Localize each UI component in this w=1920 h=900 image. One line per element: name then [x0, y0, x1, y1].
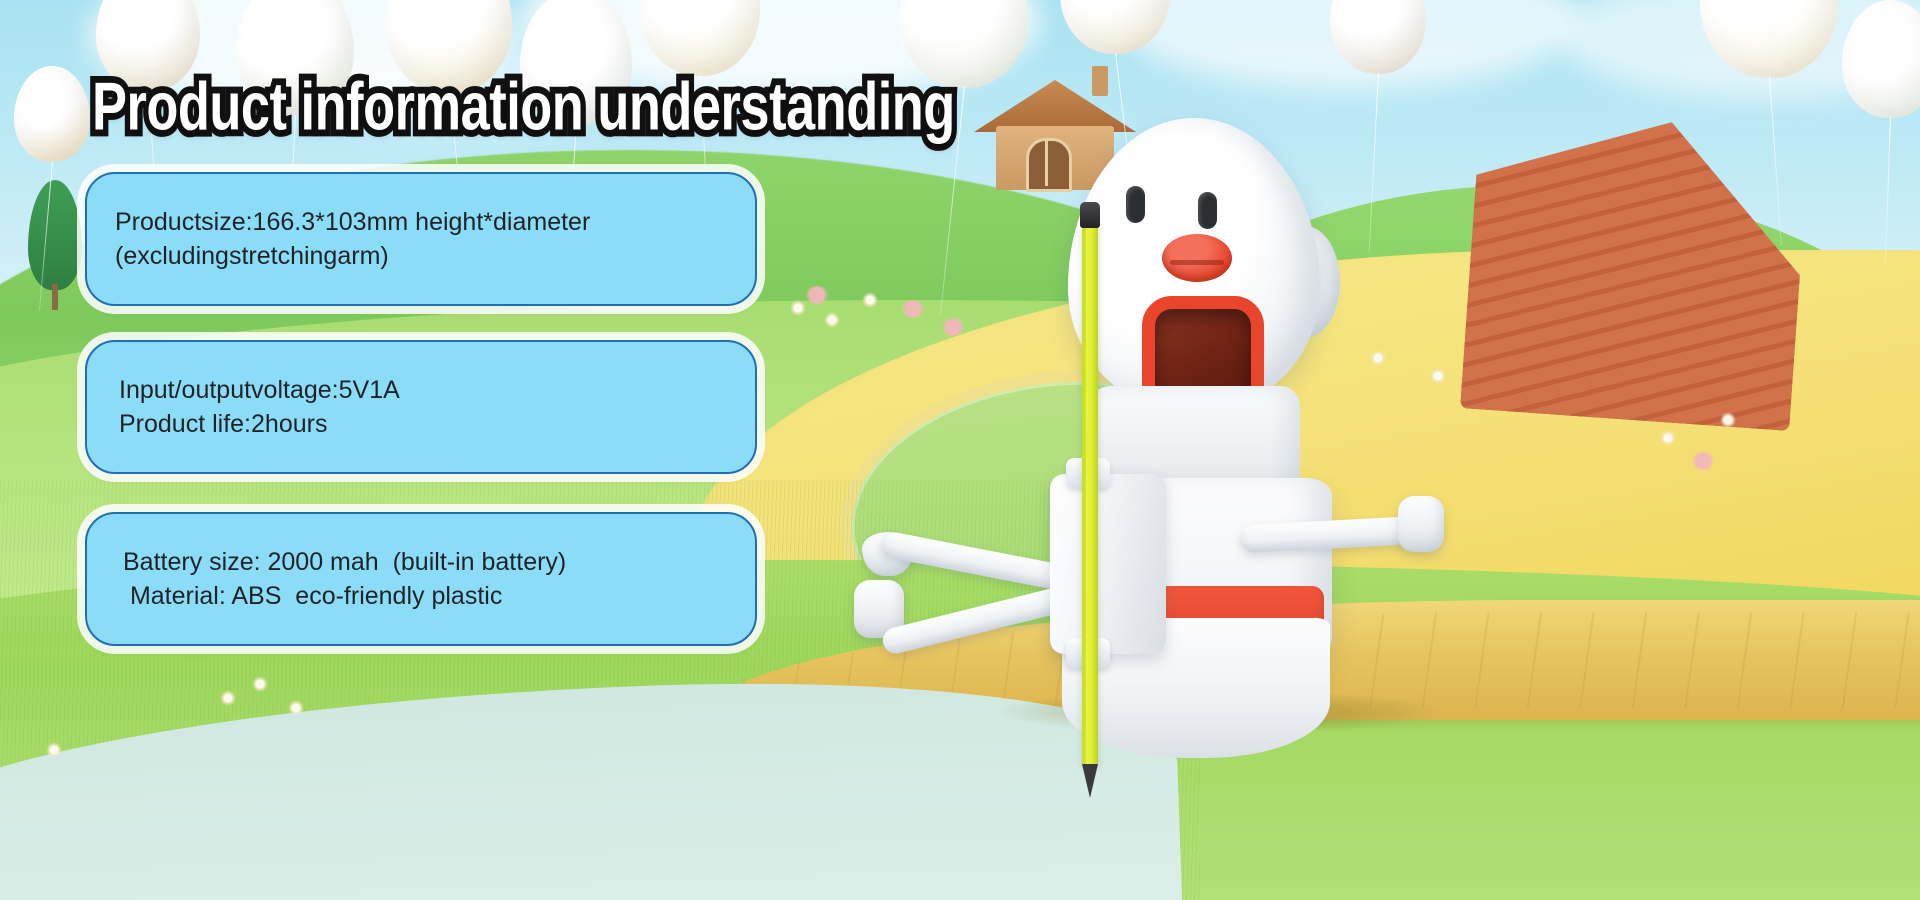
balloon-icon	[1842, 0, 1920, 118]
balloon-body	[14, 66, 90, 162]
info-box-power: Input/outputvoltage:5V1A Product life:2h…	[85, 340, 757, 474]
info-line: Input/outputvoltage:5V1A	[87, 373, 755, 407]
balloon-body	[640, 0, 760, 76]
balloon-icon	[1060, 0, 1170, 54]
page-title: Product information understanding	[92, 68, 955, 146]
pencil-cap	[1080, 202, 1100, 228]
info-line: Productsize:166.3*103mm height*diameter	[87, 205, 755, 239]
flower-icon	[220, 690, 236, 706]
flower-icon	[288, 700, 304, 716]
chimney	[1092, 66, 1108, 96]
balloon-icon	[1700, 0, 1838, 78]
drawing-robot-product	[990, 118, 1390, 678]
arm-joint	[1398, 496, 1444, 552]
robot-eye-left	[1126, 186, 1145, 223]
flower-icon	[1690, 452, 1716, 470]
info-line: Product life:2hours	[87, 407, 755, 441]
tree-trunk	[52, 284, 58, 310]
pencil-tip	[1082, 764, 1098, 798]
robot-beak	[1162, 234, 1232, 282]
balloon-icon	[14, 66, 90, 162]
info-line: (excludingstretchingarm)	[87, 239, 755, 273]
product-banner: Product information understanding Produc…	[0, 0, 1920, 900]
info-line: Battery size: 2000 mah (built-in battery…	[87, 545, 755, 579]
flower-icon	[790, 300, 806, 316]
balloon-body	[1842, 0, 1920, 118]
info-box-product-size: Productsize:166.3*103mm height*diameter …	[85, 172, 757, 306]
flower-icon	[1430, 368, 1446, 384]
balloon-body	[1060, 0, 1170, 54]
tree-crown	[28, 180, 82, 290]
flower-icon	[900, 300, 926, 318]
flower-icon	[824, 312, 840, 328]
balloon-icon	[640, 0, 760, 76]
flower-icon	[940, 318, 966, 336]
balloon-body	[1330, 0, 1426, 74]
flower-icon	[1660, 430, 1676, 446]
robot-eye-right	[1198, 192, 1217, 229]
flower-icon	[46, 742, 62, 758]
balloon-body	[1700, 0, 1838, 78]
pencil-icon	[1082, 226, 1098, 764]
flower-icon	[862, 292, 878, 308]
flower-icon	[1720, 412, 1736, 428]
tree-icon	[28, 180, 82, 290]
pencil-clamp	[1050, 474, 1166, 654]
balloon-icon	[1330, 0, 1426, 74]
info-line: Material: ABS eco-friendly plastic	[87, 579, 755, 613]
flower-icon	[252, 676, 268, 692]
flower-icon	[804, 286, 830, 304]
info-box-battery-material: Battery size: 2000 mah (built-in battery…	[85, 512, 757, 646]
